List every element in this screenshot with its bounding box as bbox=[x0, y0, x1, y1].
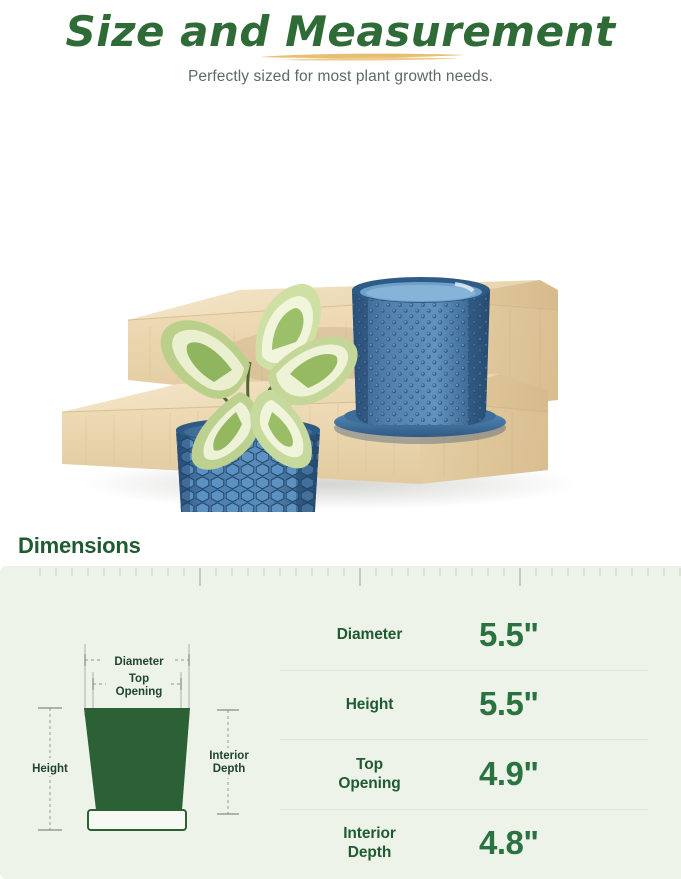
dimensions-panel: Diameter Top Opening He bbox=[0, 566, 681, 879]
hobnail-planter bbox=[334, 277, 506, 444]
table-row: Diameter 5.5" bbox=[272, 600, 681, 670]
row-label-interior-depth: InteriorDepth bbox=[272, 824, 467, 862]
infographic-page: Size and Measurement Perfectly sized for… bbox=[0, 0, 681, 879]
header: Size and Measurement Perfectly sized for… bbox=[0, 0, 681, 110]
pot-dimension-diagram: Diameter Top Opening He bbox=[0, 596, 272, 879]
dimensions-heading: Dimensions bbox=[18, 533, 141, 559]
title-block: Size and Measurement bbox=[65, 6, 615, 58]
row-value-height: 5.5" bbox=[467, 685, 681, 723]
table-row: InteriorDepth 4.8" bbox=[272, 809, 681, 879]
row-label-top-opening: TopOpening bbox=[272, 755, 467, 793]
row-value-interior-depth: 4.8" bbox=[467, 824, 681, 862]
row-value-diameter: 5.5" bbox=[467, 616, 681, 654]
diagram-label-top-opening-line2: Opening bbox=[116, 686, 163, 698]
dimensions-table: Diameter 5.5" Height 5.5" TopOpening 4.9… bbox=[272, 600, 681, 879]
saucer-shape bbox=[88, 810, 186, 830]
diagram-label-interior-depth-line1: Interior bbox=[209, 750, 249, 762]
product-photo-illustration bbox=[0, 112, 681, 512]
row-label-diameter: Diameter bbox=[272, 625, 467, 644]
page-title: Size and Measurement bbox=[65, 6, 615, 58]
table-row: Height 5.5" bbox=[272, 670, 681, 740]
product-photo bbox=[0, 112, 681, 512]
ruler-graphic bbox=[0, 566, 681, 592]
page-subtitle: Perfectly sized for most plant growth ne… bbox=[0, 68, 681, 86]
row-value-top-opening: 4.9" bbox=[467, 755, 681, 793]
diagram-label-height: Height bbox=[32, 763, 68, 775]
diagram-label-top-opening-line1: Top bbox=[129, 673, 149, 685]
pot-body-shape bbox=[84, 708, 190, 810]
table-row: TopOpening 4.9" bbox=[272, 739, 681, 809]
title-underline-swoosh bbox=[259, 52, 467, 61]
diagram-label-diameter: Diameter bbox=[114, 656, 164, 668]
diagram-label-interior-depth-line2: Depth bbox=[213, 763, 246, 775]
row-label-height: Height bbox=[272, 695, 467, 714]
